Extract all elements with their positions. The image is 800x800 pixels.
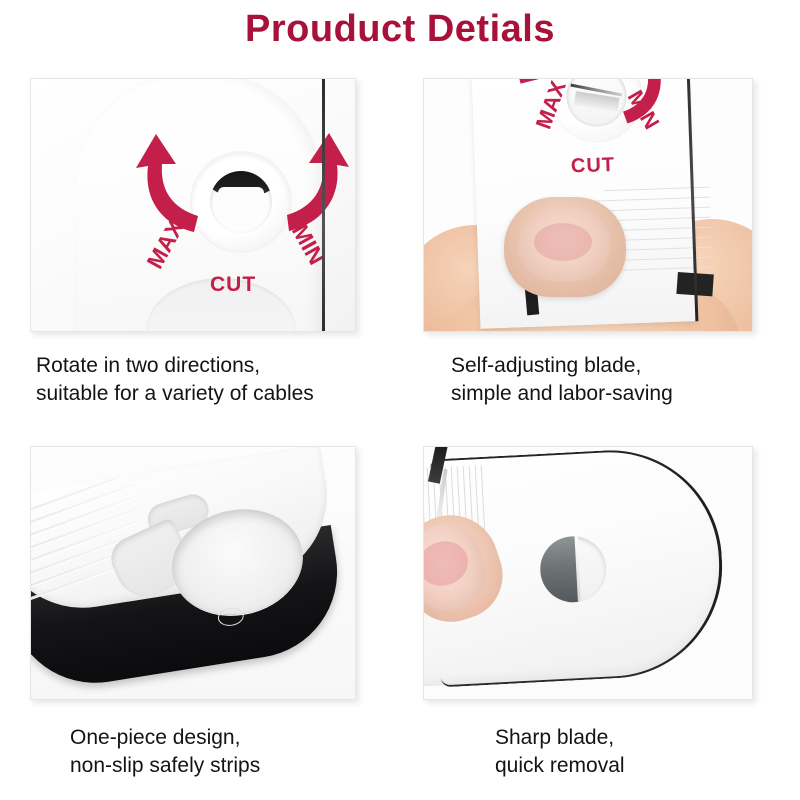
tool-jaw-right [676, 272, 713, 296]
blade-metal [539, 536, 579, 604]
hand-thumb [504, 197, 626, 297]
dial-label-cut: CUT [210, 273, 256, 297]
detail-card-sharp-blade: Sharp blade, quick removal [423, 446, 763, 780]
product-photo-sharp-blade [423, 446, 753, 700]
rotate-right-arrow-icon [281, 125, 351, 237]
detail-card-rotate: MAX MIN CUT Rotate in two directions, su… [30, 78, 370, 408]
page-title: Prouduct Detials [0, 8, 800, 51]
product-photo-one-piece: UT [30, 446, 356, 700]
caption-rotate: Rotate in two directions, suitable for a… [36, 352, 370, 408]
product-photo-rotate: MAX MIN CUT [30, 78, 356, 332]
dial-ring [192, 153, 290, 251]
product-photo-self-adjusting: MAX MIN CUT [423, 78, 753, 332]
tool-body: MAX MIN CUT [74, 78, 322, 332]
dial-hole [565, 78, 627, 128]
thumb-nail [518, 207, 610, 281]
panel-grid: MAX MIN CUT Rotate in two directions, su… [0, 78, 800, 800]
detail-card-self-adjusting: MAX MIN CUT Self-adjusting blade, simple… [423, 78, 763, 408]
blade-hole [539, 535, 608, 604]
dial-label-cut: CUT [571, 154, 616, 179]
product-details-page: Prouduct Detials [0, 0, 800, 800]
caption-one-piece: One-piece design, non-slip safely strips [70, 724, 370, 780]
tool-angled-view: UT [30, 446, 356, 700]
detail-card-one-piece: UT One-piece design, non-slip safely str… [30, 446, 370, 780]
dial-hole [210, 171, 272, 233]
caption-self-adjusting: Self-adjusting blade, simple and labor-s… [451, 352, 763, 408]
caption-sharp-blade: Sharp blade, quick removal [495, 724, 763, 780]
thumb-nail [423, 515, 495, 620]
rotate-left-arrow-icon [515, 78, 546, 84]
